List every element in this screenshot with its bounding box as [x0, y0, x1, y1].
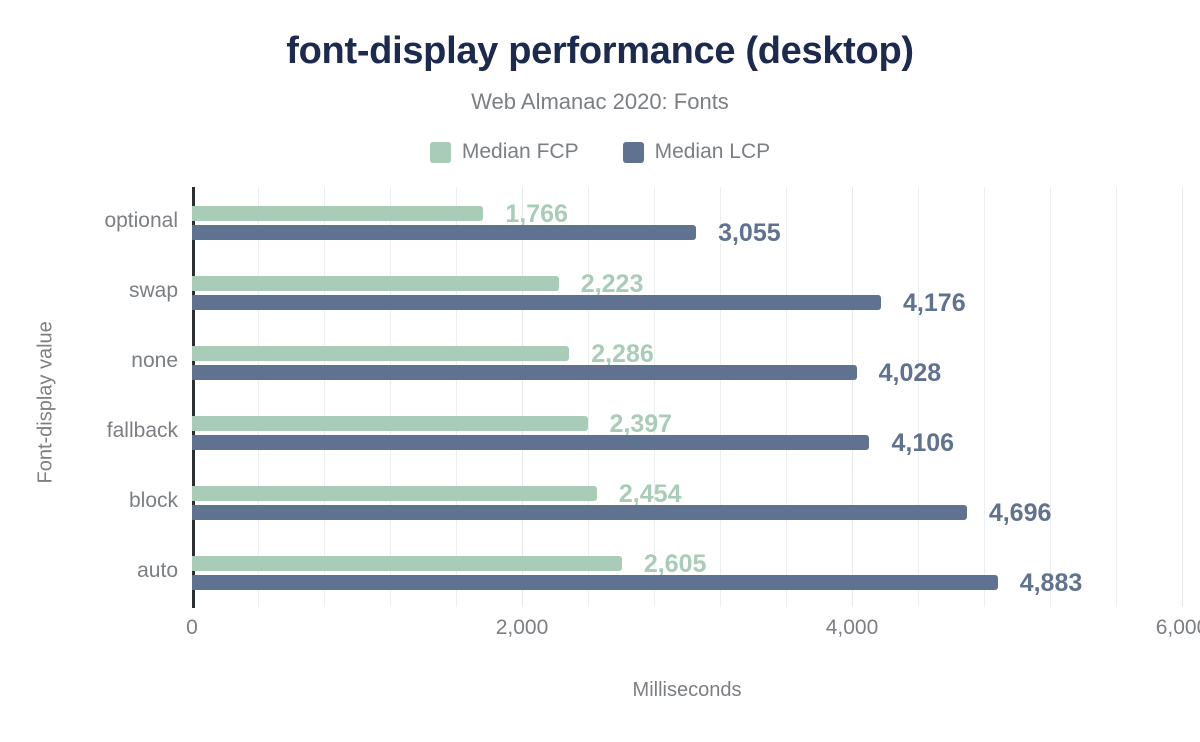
gridline: [522, 187, 523, 607]
bar-optional-lcp[interactable]: [192, 225, 696, 240]
chart-subtitle: Web Almanac 2020: Fonts: [0, 89, 1200, 115]
bar-value-label: 1,766: [505, 202, 568, 227]
gridlines: [192, 187, 1182, 607]
bar-block-lcp[interactable]: [192, 505, 967, 520]
gridline: [984, 187, 985, 607]
x-axis-tick-label: 2,000: [496, 616, 549, 640]
bar-value-label: 4,883: [1020, 571, 1083, 596]
bar-value-label: 2,286: [591, 342, 654, 367]
x-axis-tick-label: 0: [186, 616, 198, 640]
gridline: [1116, 187, 1117, 607]
chart-title: font-display performance (desktop): [0, 30, 1200, 73]
bar-block-fcp[interactable]: [192, 486, 597, 501]
gridline: [390, 187, 391, 607]
legend-item-fcp[interactable]: Median FCP: [430, 140, 579, 164]
bar-chart: font-display performance (desktop) Web A…: [0, 0, 1200, 742]
bar-fallback-lcp[interactable]: [192, 435, 869, 450]
bar-value-label: 2,397: [610, 412, 673, 437]
y-axis-label-none: none: [8, 349, 178, 373]
y-axis-title: Font-display value: [35, 334, 58, 484]
gridline: [324, 187, 325, 607]
bar-value-label: 2,454: [619, 482, 682, 507]
bar-fallback-fcp[interactable]: [192, 416, 588, 431]
gridline: [258, 187, 259, 607]
y-axis-label-block: block: [8, 489, 178, 513]
bar-value-label: 3,055: [718, 221, 781, 246]
x-axis-tick-label: 4,000: [826, 616, 879, 640]
bar-value-label: 2,223: [581, 272, 644, 297]
bar-swap-fcp[interactable]: [192, 276, 559, 291]
gridline: [720, 187, 721, 607]
bar-value-label: 4,106: [891, 431, 954, 456]
bar-auto-fcp[interactable]: [192, 556, 622, 571]
legend-swatch-lcp: [623, 142, 644, 163]
bar-swap-lcp[interactable]: [192, 295, 881, 310]
legend-label-lcp: Median LCP: [655, 140, 771, 164]
bar-value-label: 2,605: [644, 552, 707, 577]
bar-value-label: 4,028: [879, 361, 942, 386]
gridline: [852, 187, 853, 607]
legend-swatch-fcp: [430, 142, 451, 163]
x-axis-title: Milliseconds: [192, 679, 1182, 702]
bar-none-lcp[interactable]: [192, 365, 857, 380]
bar-optional-fcp[interactable]: [192, 206, 483, 221]
legend-item-lcp[interactable]: Median LCP: [623, 140, 771, 164]
bar-auto-lcp[interactable]: [192, 575, 998, 590]
gridline: [1050, 187, 1051, 607]
bar-value-label: 4,696: [989, 501, 1052, 526]
legend-label-fcp: Median FCP: [462, 140, 579, 164]
x-axis-tick-label: 6,000: [1156, 616, 1200, 640]
gridline: [1182, 187, 1183, 607]
gridline: [918, 187, 919, 607]
gridline: [588, 187, 589, 607]
gridline: [456, 187, 457, 607]
bar-none-fcp[interactable]: [192, 346, 569, 361]
y-axis-label-swap: swap: [8, 279, 178, 303]
gridline: [654, 187, 655, 607]
bar-value-label: 4,176: [903, 291, 966, 316]
y-axis-label-optional: optional: [8, 209, 178, 233]
plot-area: 1,7663,0552,2234,1762,2864,0282,3974,106…: [192, 187, 1182, 607]
y-axis-label-fallback: fallback: [8, 419, 178, 443]
y-axis-category-labels: optionalswapnonefallbackblockauto: [0, 187, 178, 607]
y-axis-label-auto: auto: [8, 559, 178, 583]
chart-legend: Median FCP Median LCP: [0, 140, 1200, 164]
gridline: [786, 187, 787, 607]
